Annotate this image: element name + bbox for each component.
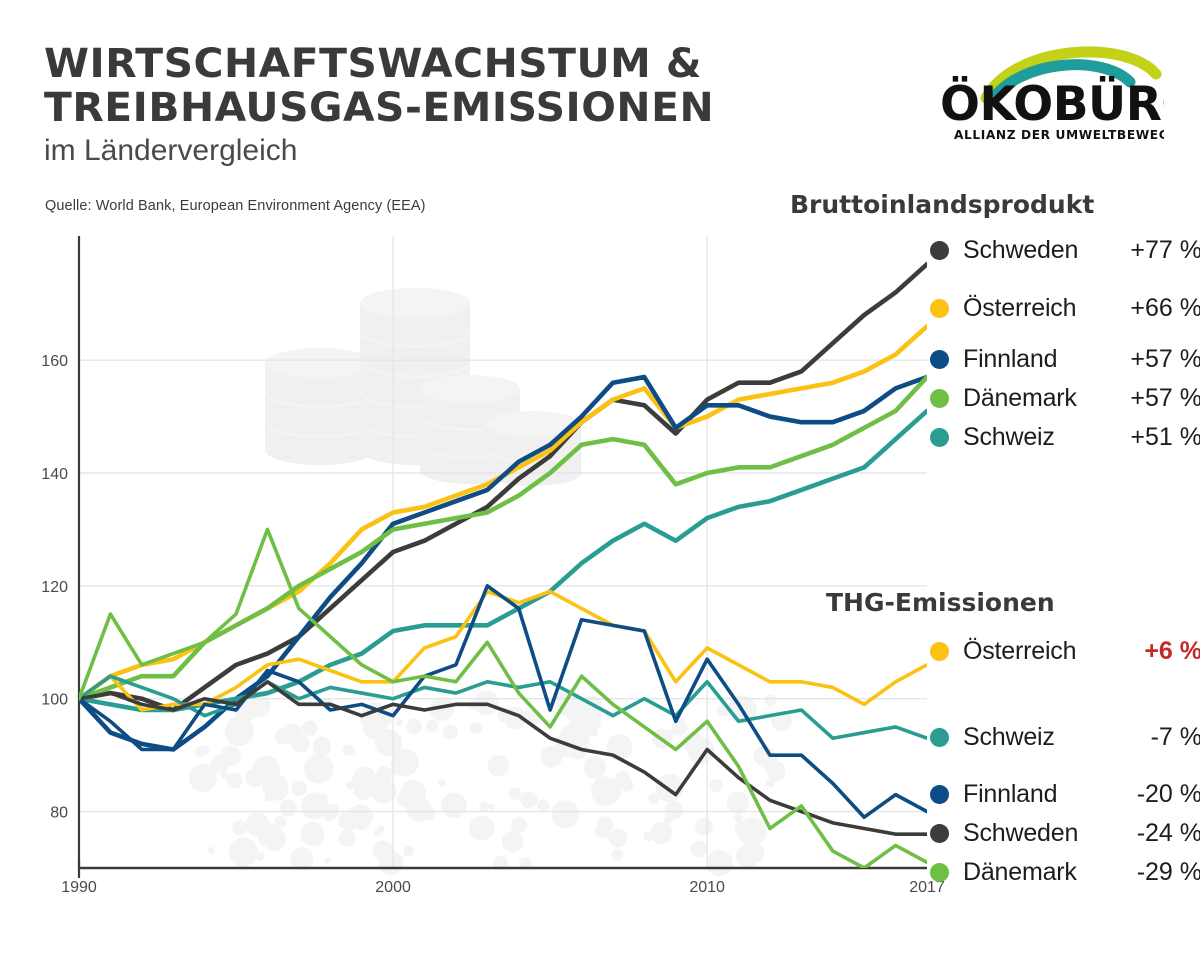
cloud-dot <box>488 804 495 811</box>
cloud-dot <box>520 791 537 808</box>
cloud-dot <box>709 779 722 792</box>
cloud-dot <box>620 779 633 792</box>
cloud-dot <box>313 737 331 755</box>
cloud-dot <box>282 723 302 743</box>
coin-stack-watermark <box>265 288 581 486</box>
cloud-dot <box>753 830 759 836</box>
cloud-dot <box>211 755 229 773</box>
legend-country-label: Finnland <box>963 780 1057 809</box>
cloud-dot <box>671 720 687 736</box>
legend-country-label: Schweden <box>963 236 1078 265</box>
cloud-dot <box>374 829 381 836</box>
legend-change-value: +66 % <box>1110 294 1200 323</box>
cloud-dot <box>648 793 659 804</box>
legend-change-value: +6 % <box>1110 637 1200 666</box>
cloud-dot <box>690 841 706 857</box>
cloud-dot <box>426 720 438 732</box>
legend-item-gdp-schweiz[interactable]: Schweiz+51 % <box>930 423 1055 452</box>
cloud-dot <box>509 788 521 800</box>
cloud-dot <box>470 722 482 734</box>
cloud-dot <box>300 822 324 846</box>
cloud-dot <box>232 820 247 835</box>
legend-change-value: -7 % <box>1110 723 1200 752</box>
legend-color-dot-schweden <box>930 824 949 843</box>
legend-country-label: Österreich <box>963 637 1076 666</box>
legend-color-dot-dänemark <box>930 863 949 882</box>
legend-item-gdp-österreich[interactable]: Österreich+66 % <box>930 294 1076 323</box>
chart-svg: 80100120140160 1990200020102017 <box>0 0 1200 955</box>
cloud-dot <box>292 781 307 796</box>
legend-change-value: -20 % <box>1110 780 1200 809</box>
cloud-dot <box>650 822 672 844</box>
legend-title-bruttoinlandsprodukt: Bruttoinlandsprodukt <box>790 190 1094 219</box>
legend-country-label: Schweden <box>963 819 1078 848</box>
x-axis-tick-labels: 1990200020102017 <box>61 879 945 896</box>
cloud-dot <box>488 755 509 776</box>
cloud-dot <box>265 793 274 802</box>
cloud-dot <box>354 780 374 800</box>
cloud-dot <box>438 779 446 787</box>
legend-title-thg-emissionen: THG-Emissionen <box>826 588 1055 617</box>
legend-color-dot-schweiz <box>930 728 949 747</box>
y-tick-label-140: 140 <box>41 466 68 483</box>
cloud-dot <box>611 849 623 861</box>
legend-country-label: Schweiz <box>963 423 1055 452</box>
legend-color-dot-österreich <box>930 299 949 318</box>
cloud-dot <box>325 857 331 863</box>
cloud-dot <box>766 779 774 787</box>
cloud-dot <box>372 841 392 861</box>
x-tick-label-1990: 1990 <box>61 879 97 896</box>
cloud-dot <box>695 818 713 836</box>
cloud-dot <box>552 800 580 828</box>
y-tick-label-100: 100 <box>41 692 68 709</box>
legend-item-thg-finnland[interactable]: Finnland-20 % <box>930 780 1057 809</box>
cloud-dot <box>195 746 206 757</box>
cloud-dot <box>246 812 270 836</box>
legend-item-thg-schweden[interactable]: Schweden-24 % <box>930 819 1078 848</box>
cloud-dot <box>253 756 280 783</box>
cloud-dot <box>406 719 422 735</box>
legend-country-label: Dänemark <box>963 858 1077 887</box>
legend-country-label: Finnland <box>963 345 1057 374</box>
cloud-dot <box>608 829 627 848</box>
legend-change-value: -24 % <box>1110 819 1200 848</box>
legend-item-thg-schweiz[interactable]: Schweiz-7 % <box>930 723 1055 752</box>
cloud-dot <box>375 729 402 756</box>
cloud-dot <box>304 754 334 784</box>
cloud-dot <box>644 832 654 842</box>
cloud-dot <box>406 797 431 822</box>
cloud-dot <box>338 820 344 826</box>
legend-color-dot-schweiz <box>930 428 949 447</box>
cloud-dot <box>339 830 356 847</box>
cloud-dot <box>229 838 258 867</box>
legend-color-dot-österreich <box>930 642 949 661</box>
x-tick-label-2010: 2010 <box>689 879 725 896</box>
cloud-dot <box>227 773 243 789</box>
y-tick-label-120: 120 <box>41 579 68 596</box>
cloud-dot <box>302 720 317 735</box>
legend-change-value: +57 % <box>1110 384 1200 413</box>
y-tick-label-80: 80 <box>50 805 68 822</box>
legend-color-dot-dänemark <box>930 389 949 408</box>
cloud-dot <box>706 850 732 876</box>
cloud-dot <box>764 695 776 707</box>
cloud-dot <box>540 746 562 768</box>
cloud-dot <box>404 846 414 856</box>
legend-item-gdp-schweden[interactable]: Schweden+77 % <box>930 236 1078 265</box>
y-tick-label-160: 160 <box>41 353 68 370</box>
cloud-dot <box>664 801 683 820</box>
cloud-dot <box>208 847 215 854</box>
cloud-dot <box>301 792 328 819</box>
cloud-dot <box>291 847 314 870</box>
legend-change-value: +57 % <box>1110 345 1200 374</box>
legend-item-gdp-finnland[interactable]: Finnland+57 % <box>930 345 1057 374</box>
cloud-dot <box>502 831 523 852</box>
legend-change-value: +77 % <box>1110 236 1200 265</box>
chart-container: 80100120140160 1990200020102017 <box>0 0 1200 955</box>
legend-item-gdp-dänemark[interactable]: Dänemark+57 % <box>930 384 1077 413</box>
cloud-dot <box>597 816 613 832</box>
cloud-dot <box>583 756 606 779</box>
cloud-dot <box>742 842 764 864</box>
legend-item-thg-dänemark[interactable]: Dänemark-29 % <box>930 858 1077 887</box>
cloud-dot <box>537 799 549 811</box>
cloud-dot <box>735 822 749 836</box>
legend-color-dot-finnland <box>930 350 949 369</box>
cloud-dot <box>734 814 743 823</box>
cloud-dot <box>280 799 297 816</box>
legend-color-dot-schweden <box>930 241 949 260</box>
cloud-dot <box>443 725 458 740</box>
cloud-dot <box>591 776 621 806</box>
series-line-thgemissionen-österreich <box>79 592 927 711</box>
legend-item-thg-österreich[interactable]: Österreich+6 % <box>930 637 1076 666</box>
legend-country-label: Dänemark <box>963 384 1077 413</box>
x-tick-label-2000: 2000 <box>375 879 411 896</box>
cloud-dot <box>225 717 254 746</box>
legend-change-value: +51 % <box>1110 423 1200 452</box>
cloud-dot <box>727 791 749 813</box>
cloud-dot <box>479 802 489 812</box>
y-axis-tick-labels: 80100120140160 <box>41 353 68 821</box>
emission-cloud-watermark <box>189 689 792 876</box>
legend-color-dot-finnland <box>930 785 949 804</box>
cloud-dot <box>469 816 494 841</box>
cloud-dot <box>343 744 355 756</box>
cloud-dot <box>666 730 674 738</box>
legend-country-label: Österreich <box>963 294 1076 323</box>
cloud-dot <box>395 719 402 726</box>
legend-country-label: Schweiz <box>963 723 1055 752</box>
cloud-dot <box>441 793 467 819</box>
legend-change-value: -29 % <box>1110 858 1200 887</box>
